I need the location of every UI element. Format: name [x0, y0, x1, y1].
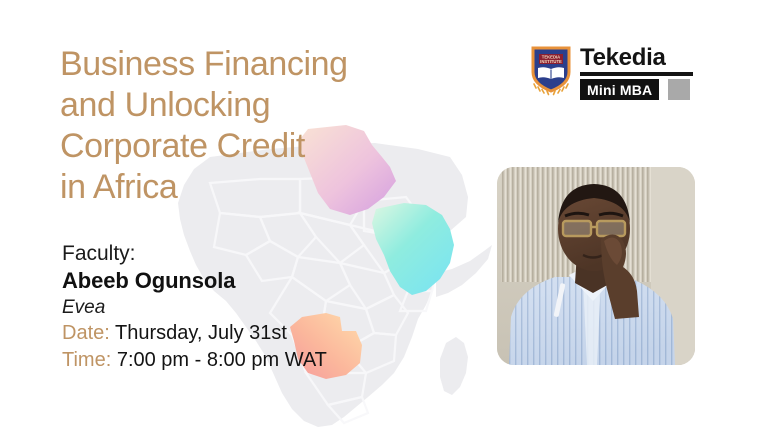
faculty-organization: Evea	[62, 295, 422, 321]
title-line-3: Corporate Credit	[60, 126, 460, 167]
schedule-date-row: Date: Thursday, July 31st	[62, 320, 442, 347]
schedule-time-row: Time: 7:00 pm - 8:00 pm WAT	[62, 347, 442, 374]
title-line-4: in Africa	[60, 167, 460, 208]
schedule-section: Date: Thursday, July 31st Time: 7:00 pm …	[62, 320, 442, 374]
tekedia-wordmark-rule	[580, 72, 693, 76]
poster-title: Business Financing and Unlocking Corpora…	[60, 44, 460, 208]
crest-banner-line2: INSTITUTE	[540, 59, 562, 64]
tekedia-logo: TEKEDIA INSTITUTE Tekedia	[528, 44, 708, 102]
time-label: Time:	[62, 349, 111, 371]
faculty-name: Abeeb Ogunsola	[62, 267, 422, 295]
tekedia-wordmark-text: Tekedia	[580, 45, 708, 71]
date-value: Thursday, July 31st	[115, 322, 287, 344]
tekedia-crest-icon: TEKEDIA INSTITUTE	[528, 44, 574, 96]
title-line-1: Business Financing	[60, 44, 460, 85]
mini-mba-badge-block: Mini MBA	[580, 79, 659, 100]
faculty-section: Faculty: Abeeb Ogunsola Evea	[62, 240, 422, 321]
mini-mba-badge-text: Mini MBA	[587, 83, 652, 97]
faculty-portrait-photo	[497, 167, 695, 365]
date-label: Date:	[62, 322, 110, 344]
webinar-poster: Business Financing and Unlocking Corpora…	[0, 0, 768, 432]
faculty-label: Faculty:	[62, 240, 422, 267]
mini-mba-badge: Mini MBA	[580, 79, 704, 100]
time-value: 7:00 pm - 8:00 pm WAT	[117, 349, 327, 371]
tekedia-wordmark: Tekedia Mini MBA	[580, 45, 708, 100]
title-line-2: and Unlocking	[60, 85, 460, 126]
mini-mba-badge-accent	[668, 79, 690, 100]
